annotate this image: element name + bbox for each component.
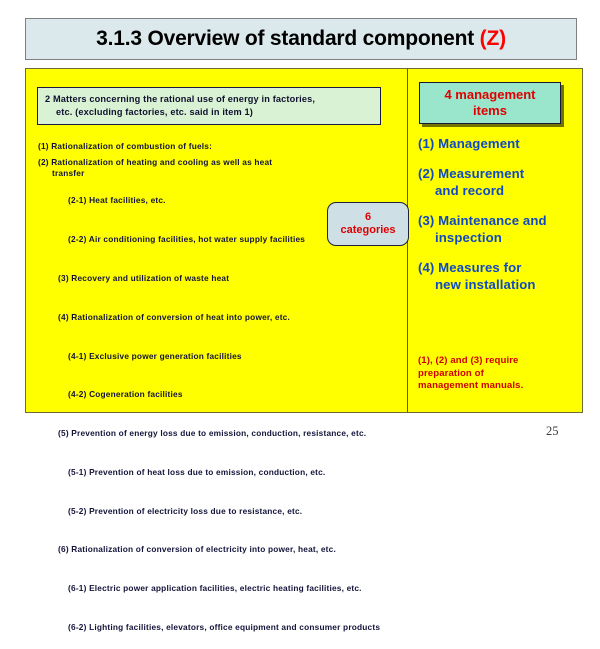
list-item: (5-1) Prevention of heat loss due to emi…	[38, 455, 400, 490]
categories-count-label: categories	[340, 224, 395, 237]
management-item-text: (3) Maintenance and	[418, 213, 547, 228]
page-title-main: 3.1.3 Overview of standard component	[96, 27, 480, 50]
management-item: (3) Maintenance and inspection	[418, 212, 580, 246]
list-item-text: (4) Rationalization of conversion of hea…	[58, 312, 290, 322]
list-item: (6) Rationalization of conversion of ele…	[38, 533, 400, 568]
management-item-text: (4) Measures for	[418, 260, 521, 275]
page-title-marker: (Z)	[480, 27, 506, 50]
list-item-text: (2-1) Heat facilities, etc.	[68, 195, 166, 205]
management-item-text: (1) Management	[418, 136, 520, 151]
list-item-text: (5-1) Prevention of heat loss due to emi…	[68, 467, 325, 477]
management-item: (1) Management	[418, 135, 580, 152]
management-note-line-3: management manuals.	[418, 380, 586, 393]
slide-title-bar: 3.1.3 Overview of standard component (Z)	[25, 18, 577, 60]
list-item: (5-2) Prevention of electricity loss due…	[38, 494, 400, 529]
management-items-header-line-1: 4 management	[444, 87, 535, 103]
list-item: (6-1) Electric power application facilit…	[38, 572, 400, 607]
categories-count-badge: 6 categories	[327, 202, 409, 246]
management-items-header-box: 4 management items	[419, 82, 561, 124]
page-number: 25	[546, 424, 559, 439]
page-title: 3.1.3 Overview of standard component (Z)	[96, 27, 506, 51]
list-item-text: (6-1) Electric power application facilit…	[68, 583, 362, 593]
list-item: (1) Rationalization of combustion of fue…	[38, 141, 290, 153]
list-item: (4-1) Exclusive power generation facilit…	[38, 339, 400, 374]
management-item: (4) Measures for new installation	[418, 259, 580, 293]
management-item-text-continued: inspection	[418, 229, 580, 246]
list-item-text: (4-1) Exclusive power generation facilit…	[68, 351, 242, 361]
content-panel: 2 Matters concerning the rational use of…	[25, 68, 583, 413]
management-item-text-continued: and record	[418, 182, 580, 199]
management-item-text-continued: new installation	[418, 276, 580, 293]
management-note-line-2: preparation of	[418, 368, 586, 381]
list-item-text: (5) Prevention of energy loss due to emi…	[58, 428, 366, 438]
list-item-text: (2) Rationalization of heating and cooli…	[38, 157, 272, 167]
scope-box-line-1: 2 Matters concerning the rational use of…	[45, 93, 373, 106]
list-item: (3) Recovery and utilization of waste he…	[38, 261, 400, 296]
scope-box: 2 Matters concerning the rational use of…	[37, 87, 381, 125]
left-panel: 2 Matters concerning the rational use of…	[26, 69, 408, 412]
management-items-list: (1) Management (2) Measurement and recor…	[418, 135, 580, 306]
list-item-text: (6-2) Lighting facilities, elevators, of…	[68, 622, 380, 632]
list-item-text: (5-2) Prevention of electricity loss due…	[68, 506, 302, 516]
list-item: (2) Rationalization of heating and cooli…	[38, 157, 290, 180]
list-item: (5) Prevention of energy loss due to emi…	[38, 416, 400, 451]
list-item: (6-2) Lighting facilities, elevators, of…	[38, 610, 400, 645]
management-item-text: (2) Measurement	[418, 166, 524, 181]
list-item: (4) Rationalization of conversion of hea…	[38, 300, 400, 335]
management-note: (1), (2) and (3) require preparation of …	[418, 355, 586, 393]
list-item-text: (6) Rationalization of conversion of ele…	[58, 544, 336, 554]
right-panel: 4 management items (1) Management (2) Me…	[408, 69, 582, 412]
list-item-text-continued: transfer	[38, 168, 290, 180]
scope-box-line-2: etc. (excluding factories, etc. said in …	[45, 106, 373, 119]
categories-count-value: 6	[365, 211, 371, 224]
list-item: (4-2) Cogeneration facilities	[38, 378, 400, 413]
list-item-text: (1) Rationalization of combustion of fue…	[38, 141, 212, 151]
management-note-line-1: (1), (2) and (3) require	[418, 355, 586, 368]
list-item-text: (4-2) Cogeneration facilities	[68, 389, 183, 399]
list-item-text: (3) Recovery and utilization of waste he…	[58, 273, 229, 283]
management-items-header-line-2: items	[473, 103, 507, 119]
list-item-text: (2-2) Air conditioning facilities, hot w…	[68, 234, 305, 244]
management-item: (2) Measurement and record	[418, 165, 580, 199]
